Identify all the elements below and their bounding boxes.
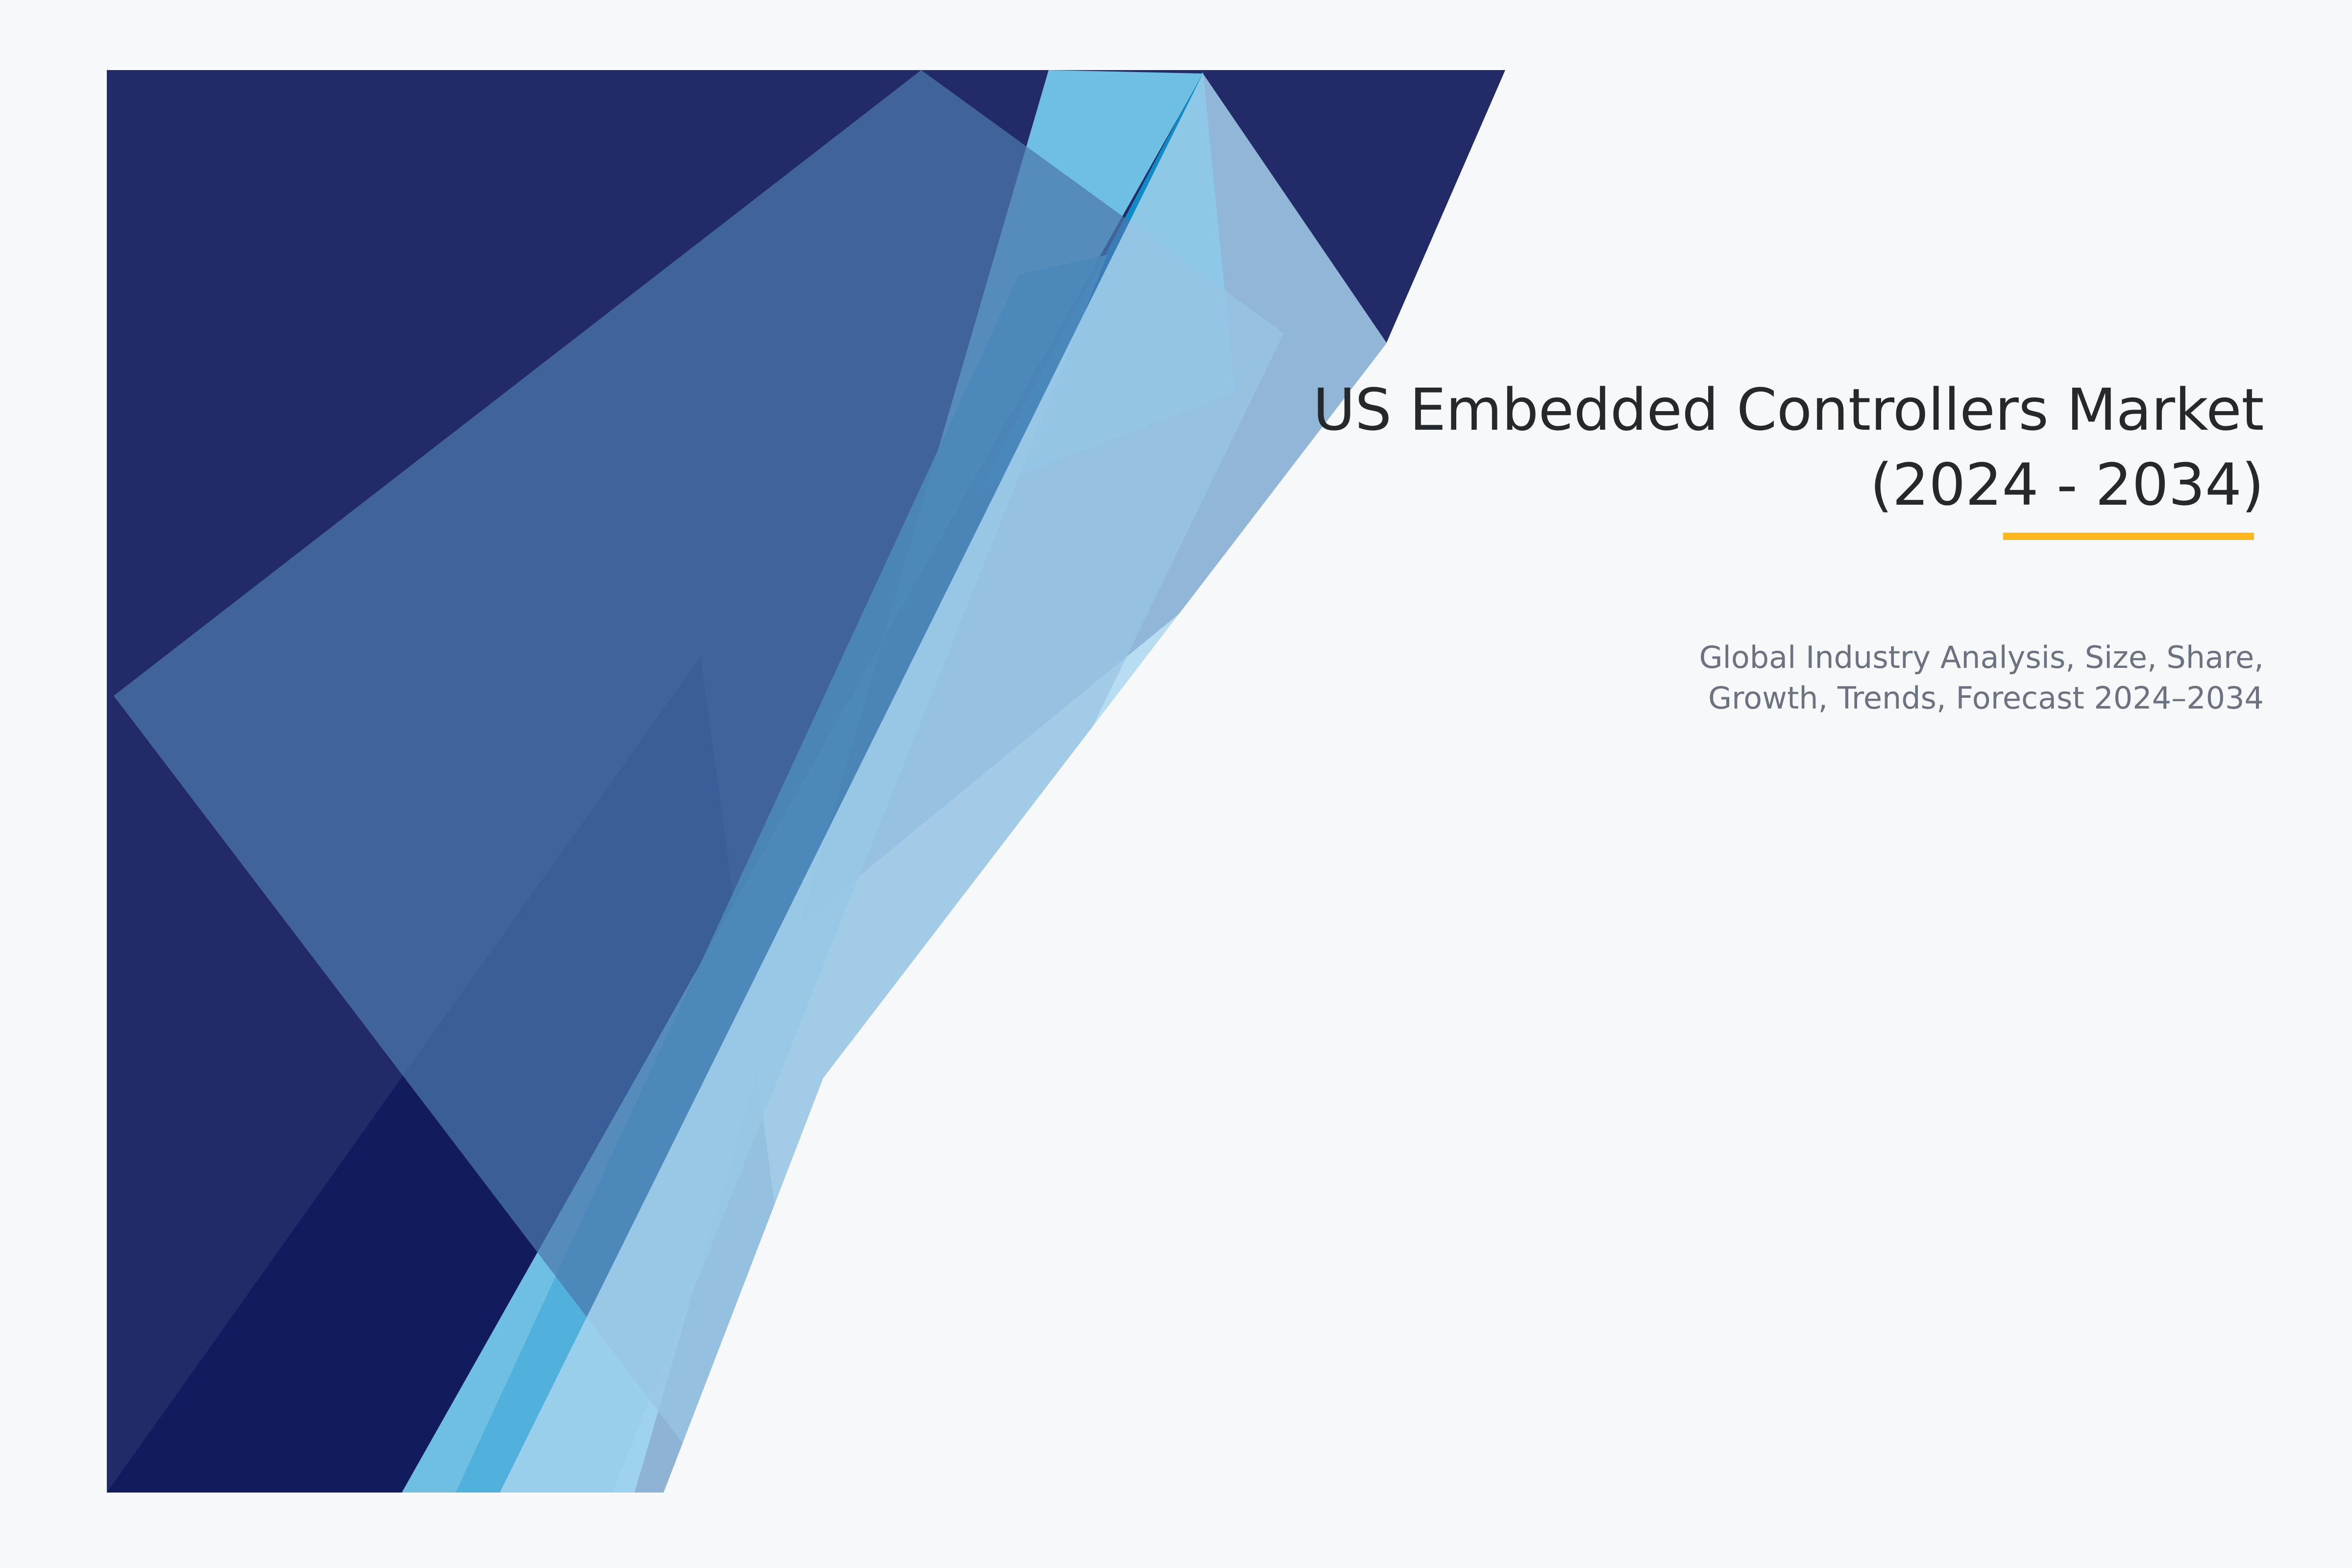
subtitle-block: Global Industry Analysis, Size, Share, G… <box>1480 637 2264 718</box>
graphic-mask-left <box>0 0 107 1568</box>
navy-top-shape <box>107 70 1505 1493</box>
light-blue-band <box>402 70 1203 1493</box>
graphic-mask-top <box>0 0 2352 70</box>
graphic-mask-bottom <box>0 1493 2352 1568</box>
cyan-base-shape <box>107 70 921 696</box>
slate-overlay-shape <box>114 70 1284 1493</box>
title-block: US Embedded Controllers Market (2024 - 2… <box>941 372 2264 523</box>
page-title: US Embedded Controllers Market (2024 - 2… <box>941 372 2264 523</box>
accent-underline <box>2003 533 2254 540</box>
cover-slide: US Embedded Controllers Market (2024 - 2… <box>0 0 2352 1568</box>
pale-blue-overlay-shape <box>500 73 1387 1493</box>
graphic-mask-right <box>635 70 2352 1568</box>
abstract-geometric-graphic <box>0 0 2352 1568</box>
deep-navy-wedge <box>107 657 813 1493</box>
page-subtitle: Global Industry Analysis, Size, Share, G… <box>1480 637 2264 718</box>
